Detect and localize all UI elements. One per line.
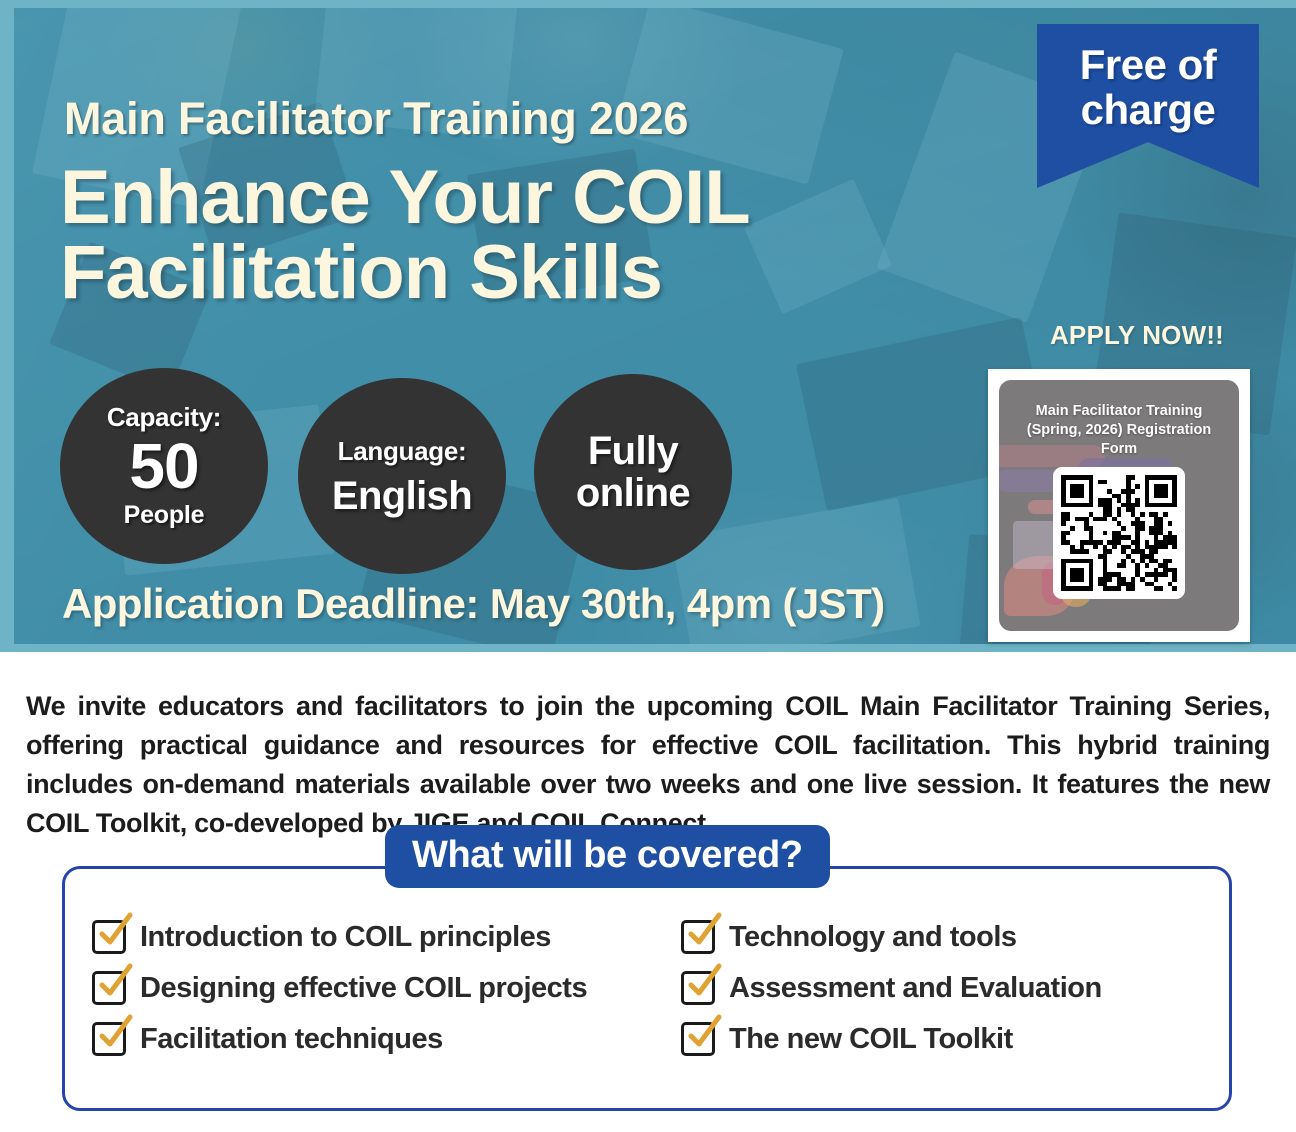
checkbox-checked-icon xyxy=(681,1022,715,1056)
list-item-label: Introduction to COIL principles xyxy=(140,921,551,954)
qr-code-matrix xyxy=(1061,475,1177,591)
page-title: Enhance Your COIL Facilitation Skills xyxy=(60,160,750,310)
list-item: Assessment and Evaluation xyxy=(681,971,1212,1005)
badge-capacity: Capacity: 50 People xyxy=(60,368,268,564)
badge-capacity-label: Capacity: xyxy=(107,402,221,433)
badge-language: Language: English xyxy=(298,378,506,574)
qr-card-inner: Main Facilitator Training (Spring, 2026)… xyxy=(999,380,1239,631)
qr-code-icon[interactable] xyxy=(1053,467,1185,599)
hero-kicker: Main Facilitator Training 2026 xyxy=(64,93,688,145)
registration-qr-card[interactable]: Main Facilitator Training (Spring, 2026)… xyxy=(988,369,1250,642)
apply-now-label: APPLY NOW!! xyxy=(1047,320,1227,351)
list-item-label: Technology and tools xyxy=(729,921,1017,954)
list-item: Facilitation techniques xyxy=(92,1022,623,1056)
hero-title-line-1: Enhance Your COIL xyxy=(60,160,750,235)
badge-format-line-2: online xyxy=(576,472,690,514)
ribbon-line-2: charge xyxy=(1080,87,1217,132)
list-item-label: The new COIL Toolkit xyxy=(729,1023,1013,1056)
badge-language-label: Language: xyxy=(338,436,467,467)
list-item: Introduction to COIL principles xyxy=(92,920,623,954)
hero-banner: Main Facilitator Training 2026 Enhance Y… xyxy=(0,0,1296,652)
checkbox-checked-icon xyxy=(681,971,715,1005)
intro-paragraph: We invite educators and facilitators to … xyxy=(26,687,1270,843)
checkbox-checked-icon xyxy=(92,971,126,1005)
list-item: Technology and tools xyxy=(681,920,1212,954)
qr-caption: Main Facilitator Training (Spring, 2026)… xyxy=(1009,402,1229,459)
application-deadline: Application Deadline: May 30th, 4pm (JST… xyxy=(62,580,885,628)
list-item-label: Designing effective COIL projects xyxy=(140,972,587,1005)
badge-capacity-unit: People xyxy=(124,501,205,530)
covered-left-column: Introduction to COIL principles Designin… xyxy=(92,920,623,1110)
badge-capacity-value: 50 xyxy=(129,434,198,499)
list-item: The new COIL Toolkit xyxy=(681,1022,1212,1056)
badge-language-value: English xyxy=(332,475,472,517)
checkbox-checked-icon xyxy=(92,1022,126,1056)
list-item-label: Assessment and Evaluation xyxy=(729,972,1102,1005)
badge-format: Fully online xyxy=(534,374,732,570)
covered-heading-badge: What will be covered? xyxy=(385,825,830,888)
hero-title-line-2: Facilitation Skills xyxy=(60,235,750,310)
list-item: Designing effective COIL projects xyxy=(92,971,623,1005)
list-item-label: Facilitation techniques xyxy=(140,1023,443,1056)
ribbon-text: Free of charge xyxy=(1080,42,1217,133)
checkbox-checked-icon xyxy=(681,920,715,954)
covered-topics-columns: Introduction to COIL principles Designin… xyxy=(62,920,1232,1110)
ribbon-line-1: Free of xyxy=(1080,42,1217,87)
checkbox-checked-icon xyxy=(92,920,126,954)
covered-right-column: Technology and tools Assessment and Eval… xyxy=(623,920,1212,1110)
badge-format-line-1: Fully xyxy=(588,430,678,472)
